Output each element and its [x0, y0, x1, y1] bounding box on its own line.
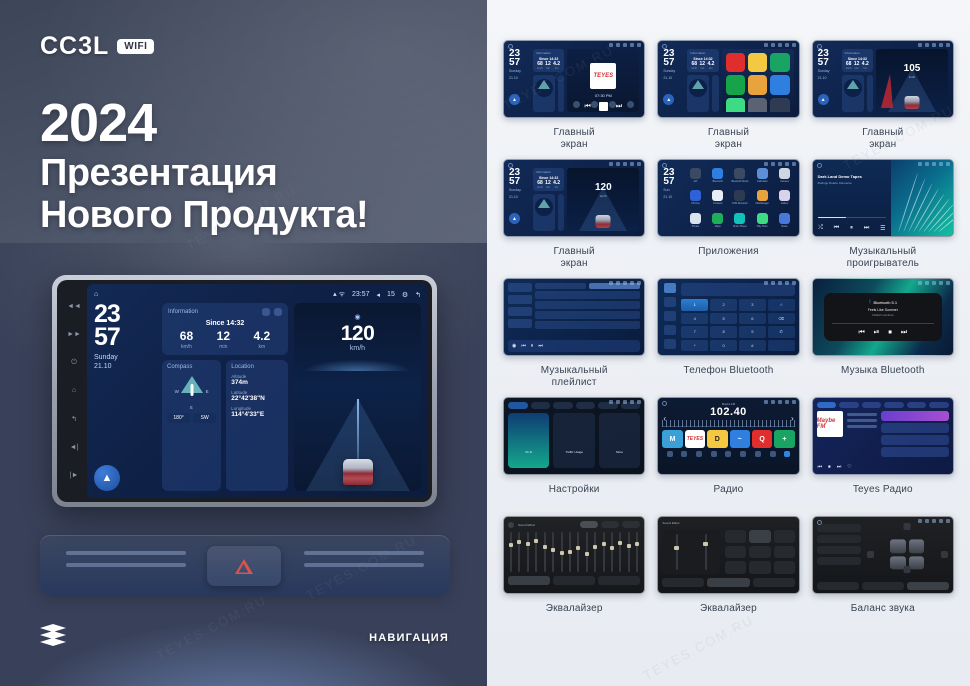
playback-controls[interactable]: ⤮ ⏮ ⏸ ⏭ ☰: [813, 225, 891, 232]
app-icon[interactable]: [770, 75, 789, 94]
settings-tab[interactable]: [664, 339, 676, 349]
app-item[interactable]: Gallery: [775, 190, 793, 209]
balance-presets[interactable]: [817, 521, 861, 589]
latitude-row: Latitude 22°42'38"N: [231, 390, 283, 402]
card-action-1-icon[interactable]: [262, 308, 270, 316]
tab-fader[interactable]: [753, 578, 795, 587]
balance-pad[interactable]: [866, 521, 949, 589]
home-icon[interactable]: ⌂: [94, 291, 98, 298]
list-item[interactable]: [881, 423, 949, 433]
home-icon: [508, 44, 513, 49]
thumb-teyes-radio[interactable]: Maybe FM ⏮ ⏹ ⏭ ♡: [812, 397, 954, 475]
stat-unit: km/h: [180, 344, 193, 350]
list-icon[interactable]: ☰: [880, 225, 885, 232]
list-icon[interactable]: [784, 451, 790, 457]
key-3[interactable]: 3: [739, 299, 766, 311]
gallery-item[interactable]: ᛒBluetooth 5.1 Feels Like Summer Childis…: [812, 278, 954, 389]
equalizer-bands[interactable]: [508, 532, 640, 572]
key-hash[interactable]: #: [739, 340, 766, 352]
app-icon[interactable]: [748, 75, 767, 94]
eq-band[interactable]: [518, 532, 520, 572]
key-4[interactable]: 4: [681, 313, 708, 325]
key-6[interactable]: 6: [739, 313, 766, 325]
key-9[interactable]: 9: [739, 326, 766, 338]
key-2[interactable]: 2: [710, 299, 737, 311]
information-card[interactable]: Information Since 14:32 68km/h 12min 4.2…: [842, 49, 873, 72]
search-icon[interactable]: [681, 451, 687, 457]
preset-front[interactable]: [817, 535, 861, 543]
preset-4[interactable]: ~: [730, 430, 750, 448]
tab-stations[interactable]: [839, 402, 859, 408]
gallery-item[interactable]: Wi-Fi Traffic Usage More Настройки: [503, 397, 645, 508]
list-item[interactable]: [881, 411, 949, 421]
next-station-icon[interactable]: ›: [791, 414, 794, 423]
btn-next-icon[interactable]: ►►: [67, 331, 81, 338]
preset-vocal[interactable]: [749, 546, 770, 559]
eq-band[interactable]: [561, 532, 563, 572]
status-bar: [918, 281, 950, 285]
previous-icon[interactable]: ⏮: [521, 343, 526, 349]
compass-widget[interactable]: [687, 75, 709, 112]
preset-1[interactable]: M: [662, 430, 682, 448]
preset-all[interactable]: [817, 557, 861, 565]
preset-3[interactable]: D: [707, 430, 727, 448]
status-bar: [764, 281, 796, 285]
favorite-icon[interactable]: ♡: [847, 464, 851, 470]
list-item[interactable]: [881, 447, 949, 457]
app-icon[interactable]: [726, 98, 745, 112]
key-1[interactable]: 1: [681, 299, 708, 311]
eq-band[interactable]: [594, 532, 596, 572]
pause-icon[interactable]: ⏸: [850, 225, 853, 232]
preset-a[interactable]: [601, 521, 619, 528]
tab-theme[interactable]: [576, 402, 596, 409]
app-item[interactable]: AVI: [686, 168, 704, 187]
preset-rock[interactable]: [774, 530, 795, 543]
previous-icon[interactable]: ⏮: [818, 464, 823, 470]
radio-toolbar[interactable]: [662, 451, 794, 457]
tab-effect[interactable]: [862, 582, 904, 590]
preset-custom[interactable]: [774, 561, 795, 574]
clock-weekday: Sunday: [94, 353, 156, 362]
call-icon[interactable]: ✆: [768, 326, 795, 338]
balance-down-button[interactable]: [904, 566, 911, 573]
thumb-music-player[interactable]: Dark Land Demo Tapes Rodrigo Duarte Clem…: [812, 159, 954, 237]
shuffle-icon[interactable]: ⤮: [818, 225, 823, 232]
information-title: Information: [536, 51, 561, 55]
key-5[interactable]: 5: [710, 313, 737, 325]
tab-favorites[interactable]: [907, 402, 927, 408]
tab-genres[interactable]: [862, 402, 882, 408]
favorite-icon[interactable]: ☆: [768, 299, 795, 311]
key-8[interactable]: 8: [710, 326, 737, 338]
tab-live[interactable]: [817, 402, 837, 408]
gallery-item[interactable]: 23 57 Sunday 21.10 ▲ Information Since 1…: [657, 40, 799, 151]
eq-band[interactable]: [510, 532, 512, 572]
dial-pad[interactable]: 1 2 3 ☆ 4 5 6 ⌫ 7 8 9 ✆ *: [681, 299, 794, 351]
headline-year: 2024: [40, 95, 368, 152]
settings-card-wifi[interactable]: Wi-Fi: [508, 413, 549, 468]
preset-5[interactable]: Q: [752, 430, 772, 448]
previous-icon[interactable]: ⏮: [858, 329, 864, 337]
btn-voldown-icon[interactable]: ◄|: [70, 444, 79, 451]
eq-band[interactable]: [577, 532, 579, 572]
preset-buttons[interactable]: [580, 521, 640, 528]
tab-wifi[interactable]: [508, 402, 528, 409]
preset-rear[interactable]: [817, 546, 861, 554]
navigation-button[interactable]: ▲: [509, 213, 520, 224]
gallery-item[interactable]: 23 57 Sunday 21.10 ▲ Information Since 1…: [503, 159, 645, 270]
backspace-icon[interactable]: ⌫: [768, 313, 795, 325]
btn-home-icon[interactable]: ⌂: [72, 387, 76, 394]
station-info: [847, 411, 877, 461]
list-item[interactable]: [535, 311, 640, 319]
tab-search[interactable]: [929, 402, 949, 408]
thumb-radio[interactable]: ‹ › Maybe FM 102.40 M TEYES D ~ Q +: [657, 397, 799, 475]
media-extra-controls[interactable]: [567, 101, 639, 108]
key-7[interactable]: 7: [681, 326, 708, 338]
gallery-caption: Радио: [714, 484, 744, 508]
status-bar: [609, 400, 641, 404]
thumb-apps[interactable]: 23 57 Sun 21.10 AVI Bluetooth Bluetooth …: [657, 159, 799, 237]
next-icon[interactable]: ⏭: [864, 225, 869, 232]
preset-custom[interactable]: [580, 521, 598, 528]
play-pause-icon[interactable]: ⏯: [874, 329, 880, 337]
pause-icon[interactable]: ⏸: [531, 343, 534, 349]
playback-controls[interactable]: ⏮ ⏯ ⏹ ⏭: [824, 329, 942, 337]
navigation-button[interactable]: ▲: [818, 94, 829, 105]
gallery-item[interactable]: Баланс звука: [812, 516, 954, 627]
head-unit-device: ◄◄ ►► ⏻ ⌂ ↰ ◄| |► ⌂ ▴ ᯤ 23:57: [52, 275, 437, 507]
speed-unit: km/h: [567, 194, 639, 198]
app-item[interactable]: Private: [686, 213, 704, 232]
level-sliders[interactable]: [662, 530, 720, 574]
location-widget[interactable]: [712, 75, 718, 112]
thumb-equalizer-2[interactable]: Sound Effect: [657, 516, 799, 594]
key-star[interactable]: *: [681, 340, 708, 352]
eq-band[interactable]: [603, 532, 605, 572]
gallery-item[interactable]: Dark Land Demo Tapes Rodrigo Duarte Clem…: [812, 159, 954, 270]
compass-widget[interactable]: [533, 75, 555, 112]
gallery-item[interactable]: Sound Effect: [657, 516, 799, 627]
gallery-item[interactable]: 1 2 3 ☆ 4 5 6 ⌫ 7 8 9 ✆ *: [657, 278, 799, 389]
information-card[interactable]: Information Since 14:32 68 km/h: [162, 303, 288, 355]
clock-weekday: Sun: [663, 188, 682, 193]
folders-tab[interactable]: [508, 319, 532, 328]
repeat-icon: [591, 101, 598, 108]
preset-2[interactable]: TEYES: [685, 430, 705, 448]
app-icon[interactable]: [770, 98, 789, 112]
playback-controls[interactable]: ⏮ ⏹ ⏭ ♡: [818, 464, 852, 470]
app-icon[interactable]: [748, 98, 767, 112]
btn-prev-icon[interactable]: ◄◄: [67, 303, 81, 310]
trip-stat: 68 km/h: [180, 330, 193, 350]
app-label: Maps: [715, 225, 721, 228]
previous-icon[interactable]: ⏮: [834, 225, 839, 232]
location-widget[interactable]: [558, 75, 564, 112]
driving-view-widget[interactable]: 120 km/h: [567, 168, 639, 231]
progress-bar[interactable]: [832, 323, 934, 324]
settings-icon[interactable]: ⚙: [402, 291, 408, 299]
phone-sidebar[interactable]: [662, 283, 678, 351]
favorites-tab[interactable]: [508, 307, 532, 316]
preset-dance[interactable]: [774, 546, 795, 559]
thumb-music-playlist[interactable]: ◉ ⏮ ⏸ ⏭: [503, 278, 645, 356]
tab-fader[interactable]: [598, 576, 640, 585]
compass-dial: [689, 79, 707, 97]
teyes-radio-tabs[interactable]: [817, 402, 949, 408]
equalizer-footer-tabs[interactable]: [662, 578, 794, 587]
list-item[interactable]: [535, 291, 640, 299]
navigation-button[interactable]: ▲: [94, 465, 120, 491]
app-item[interactable]: Contacts: [709, 190, 727, 209]
stat-unit: km: [707, 67, 714, 70]
gallery-caption: Главныйэкран: [862, 127, 903, 151]
ta-icon[interactable]: [740, 451, 746, 457]
thumb-home-media[interactable]: 23 57 Sunday 21.10 ▲ Information Since 1…: [503, 40, 645, 118]
information-card[interactable]: Information Since 14:32 68km/h 12min 4.2…: [687, 49, 718, 72]
dialpad-tab[interactable]: [664, 283, 676, 293]
clock-date: 21.10: [663, 76, 684, 81]
app-item[interactable]: Bluetooth: [709, 168, 727, 187]
favorites-tab[interactable]: [664, 325, 676, 335]
progress-bar[interactable]: [818, 217, 886, 219]
eq-band[interactable]: [586, 532, 588, 572]
stat-unit: km: [553, 186, 560, 189]
head-unit-screen[interactable]: ⌂ ▴ ᯤ 23:57 ◂ 15 ⚙ ↰: [87, 284, 428, 498]
location-widget[interactable]: Location Altitude 374m Latitude 22°42'38…: [226, 360, 288, 491]
gallery-item[interactable]: 23 57 Sunday 21.10 ▲ Information Since 1…: [503, 40, 645, 151]
eq-band[interactable]: [569, 532, 571, 572]
stat-unit: min: [545, 67, 551, 70]
gallery-caption: Главныйэкран: [554, 127, 595, 151]
thumb-sound-balance[interactable]: [812, 516, 954, 594]
brand-name: CC3L: [40, 32, 109, 61]
app-item[interactable]: Music Player: [731, 213, 749, 232]
gallery-caption: Эквалайзер: [700, 603, 757, 627]
music-info-pane[interactable]: Dark Land Demo Tapes Rodrigo Duarte Clem…: [813, 160, 891, 236]
media-widget[interactable]: TEYES 07:30 PM ⏮⏭: [567, 49, 639, 112]
app-item[interactable]: Chrome: [686, 190, 704, 209]
stop-icon[interactable]: ⏹: [888, 329, 892, 337]
shuffle-icon: [573, 101, 580, 108]
screens-gallery-panel: 23 57 Sunday 21.10 ▲ Information Since 1…: [487, 0, 970, 686]
preset-classic[interactable]: [749, 530, 770, 543]
clock-weekday: Sunday: [818, 69, 839, 74]
balance-up-button[interactable]: [904, 523, 911, 530]
driving-view-widget[interactable]: ◉ 120 km/h: [294, 303, 421, 491]
compass-widget[interactable]: Compass W E S: [162, 360, 221, 491]
gallery-item[interactable]: ◉ ⏮ ⏸ ⏭ Музыкальныйплейлист: [503, 278, 645, 389]
balance-right-button[interactable]: [941, 551, 948, 558]
bt-music-card[interactable]: ᛒBluetooth 5.1 Feels Like Summer Childis…: [824, 293, 942, 340]
app-item[interactable]: DVR Recorder: [731, 190, 749, 209]
eq-band[interactable]: [628, 532, 630, 572]
preset-soft[interactable]: [749, 561, 770, 574]
artists-tab[interactable]: [508, 295, 532, 304]
gallery-item[interactable]: 23 57 Sunday 21.10 ▲ Information Since 1…: [812, 40, 954, 151]
app-drawer-grid[interactable]: AVI Bluetooth Bluetooth Music Calculator…: [682, 168, 793, 232]
next-icon[interactable]: ⏭: [538, 343, 543, 349]
list-item[interactable]: [881, 435, 949, 445]
contacts-tab[interactable]: [664, 297, 676, 307]
gallery-caption: Приложения: [698, 246, 759, 270]
app-icon[interactable]: [726, 53, 745, 72]
apps-shortcut-panel[interactable]: [722, 49, 794, 112]
btn-volup-icon[interactable]: |►: [70, 472, 79, 479]
thumb-bluetooth-phone[interactable]: 1 2 3 ☆ 4 5 6 ⌫ 7 8 9 ✆ *: [657, 278, 799, 356]
head-unit-side-buttons[interactable]: ◄◄ ►► ⏻ ⌂ ↰ ◄| |►: [61, 284, 87, 498]
clock-minutes: 57: [94, 326, 156, 349]
thumb-bluetooth-music[interactable]: ᛒBluetooth 5.1 Feels Like Summer Childis…: [812, 278, 954, 356]
preset-driver[interactable]: [817, 524, 861, 532]
app-item[interactable]: Play Store: [753, 213, 771, 232]
eq-band[interactable]: [544, 532, 546, 572]
gallery-item[interactable]: 23 57 Sun 21.10 AVI Bluetooth Bluetooth …: [657, 159, 799, 270]
tab-eq[interactable]: [508, 576, 550, 585]
navigation-button[interactable]: ▲: [509, 94, 520, 105]
location-widget[interactable]: [558, 194, 564, 231]
back-icon[interactable]: ↰: [415, 291, 421, 299]
app-item[interactable]: Camera: [775, 168, 793, 187]
private-icon: [690, 213, 701, 224]
navigation-footer-label: НАВИГАЦИЯ: [369, 632, 449, 644]
clock-weekday: Sunday: [663, 69, 684, 74]
now-playing-bar[interactable]: ◉ ⏮ ⏸ ⏭: [508, 340, 640, 352]
navigation-button[interactable]: ▲: [663, 94, 674, 105]
home-icon: [817, 520, 822, 525]
tab-eq[interactable]: [817, 582, 859, 590]
thumb-equalizer[interactable]: Sound Effect: [503, 516, 645, 594]
stat-value: 4.2: [254, 330, 271, 342]
tab-fader[interactable]: [907, 582, 949, 590]
balance-footer-tabs[interactable]: [817, 582, 949, 590]
wifi-icon: ▴ ᯤ: [333, 290, 345, 299]
eq-band[interactable]: [619, 532, 621, 572]
trip-stats: 68 km/h 12 min 4.2: [168, 330, 282, 350]
stop-icon[interactable]: ⏹: [828, 464, 831, 470]
bluetooth-version: Bluetooth 5.1: [874, 300, 898, 305]
eq-band[interactable]: [552, 532, 554, 572]
balance-left-button[interactable]: [867, 551, 874, 558]
preset-6[interactable]: +: [774, 430, 794, 448]
preset-jazz[interactable]: [725, 546, 746, 559]
status-bar: [609, 281, 641, 285]
settings-card-traffic[interactable]: Traffic Usage: [553, 413, 594, 468]
slider-left[interactable]: [676, 534, 678, 570]
key-0[interactable]: 0: [710, 340, 737, 352]
card-action-2-icon[interactable]: [274, 308, 282, 316]
information-card[interactable]: Information Since 14:32 68km/h 12min 4.2…: [533, 49, 564, 72]
settings-card-more[interactable]: More: [599, 413, 640, 468]
app-item[interactable]: Maps: [709, 213, 727, 232]
information-title: Information: [536, 170, 561, 174]
radio-presets[interactable]: M TEYES D ~ Q +: [662, 430, 794, 448]
contacts-icon: [712, 190, 723, 201]
eq-band[interactable]: [527, 532, 529, 572]
app-label: Play Store: [757, 225, 768, 228]
eq-band[interactable]: [636, 532, 638, 572]
tab-countries[interactable]: [884, 402, 904, 408]
tab-balance[interactable]: [553, 576, 595, 585]
prev-station-icon[interactable]: ‹: [663, 414, 666, 423]
eq-band[interactable]: [611, 532, 613, 572]
thumb-settings[interactable]: Wi-Fi Traffic Usage More: [503, 397, 645, 475]
thumb-home-drive[interactable]: 23 57 Sunday 21.10 ▲ Information Since 1…: [812, 40, 954, 118]
gallery-item[interactable]: ‹ › Maybe FM 102.40 M TEYES D ~ Q +: [657, 397, 799, 508]
app-item[interactable]: Radio: [775, 213, 793, 232]
btn-back-icon[interactable]: ↰: [71, 416, 77, 423]
loc-icon[interactable]: [755, 451, 761, 457]
tab-eq[interactable]: [662, 578, 704, 587]
speed-value: 120: [567, 182, 639, 193]
compass-widget[interactable]: [533, 194, 555, 231]
headline-line-1: Презентация: [40, 152, 368, 195]
next-icon[interactable]: ⏭: [901, 329, 907, 337]
app-item[interactable]: Bluetooth Music: [731, 168, 749, 187]
speed-gauge-icon: ◉: [354, 313, 360, 321]
gallery-item[interactable]: Sound Effect: [503, 516, 645, 627]
app-icon[interactable]: [770, 53, 789, 72]
sound-preset-keys[interactable]: [725, 530, 794, 574]
gallery-item[interactable]: Maybe FM ⏮ ⏹ ⏭ ♡: [812, 397, 954, 508]
driving-view-widget[interactable]: 105 km/h: [876, 49, 948, 112]
eq-icon[interactable]: [696, 451, 702, 457]
recent-tab[interactable]: [664, 311, 676, 321]
volume-level: 15: [387, 291, 395, 298]
settings-icon[interactable]: [770, 451, 776, 457]
information-card[interactable]: Information Since 14:32 68km/h 12min 4.2…: [533, 168, 564, 191]
hazard-light-button[interactable]: [207, 546, 281, 586]
album-art-label: TEYES: [593, 73, 613, 79]
thumb-home-drive-2[interactable]: 23 57 Sunday 21.10 ▲ Information Since 1…: [503, 159, 645, 237]
tracks-tab[interactable]: [508, 283, 532, 292]
app-icon[interactable]: [726, 75, 745, 94]
eq-band[interactable]: [535, 532, 537, 572]
preset-bass[interactable]: [725, 561, 746, 574]
af-icon[interactable]: [725, 451, 731, 457]
compass-degrees: 180°: [167, 413, 190, 423]
band-icon[interactable]: [667, 451, 673, 457]
compass-widget[interactable]: [842, 75, 864, 112]
equalizer-footer-tabs[interactable]: [508, 576, 640, 585]
btn-power-icon[interactable]: ⏻: [71, 359, 77, 366]
tab-sound[interactable]: [531, 402, 551, 409]
app-item[interactable]: Calculator: [753, 168, 771, 187]
trip-stat: 12 min: [217, 330, 230, 350]
longitude-row: Longitude 114°4'33"E: [231, 406, 283, 418]
station-list[interactable]: [881, 411, 949, 461]
thumb-home-apps[interactable]: 23 57 Sunday 21.10 ▲ Information Since 1…: [657, 40, 799, 118]
location-widget[interactable]: [867, 75, 873, 112]
tab-effect[interactable]: [707, 578, 749, 587]
next-icon[interactable]: ⏭: [837, 464, 842, 470]
preset-b[interactable]: [622, 521, 640, 528]
list-item[interactable]: [535, 321, 640, 329]
list-icon: [609, 101, 616, 108]
clock-date: 21.10: [663, 195, 682, 200]
tab-all[interactable]: [535, 283, 586, 289]
information-card-actions[interactable]: [262, 308, 282, 316]
list-item[interactable]: [535, 301, 640, 309]
app-item[interactable]: FileManager: [753, 190, 771, 209]
preset-pop[interactable]: [725, 530, 746, 543]
slider-right[interactable]: [705, 534, 707, 570]
tab-display[interactable]: [553, 402, 573, 409]
app-icon[interactable]: [748, 53, 767, 72]
tuning-arrows[interactable]: ‹ ›: [658, 414, 798, 423]
rds-icon[interactable]: [711, 451, 717, 457]
